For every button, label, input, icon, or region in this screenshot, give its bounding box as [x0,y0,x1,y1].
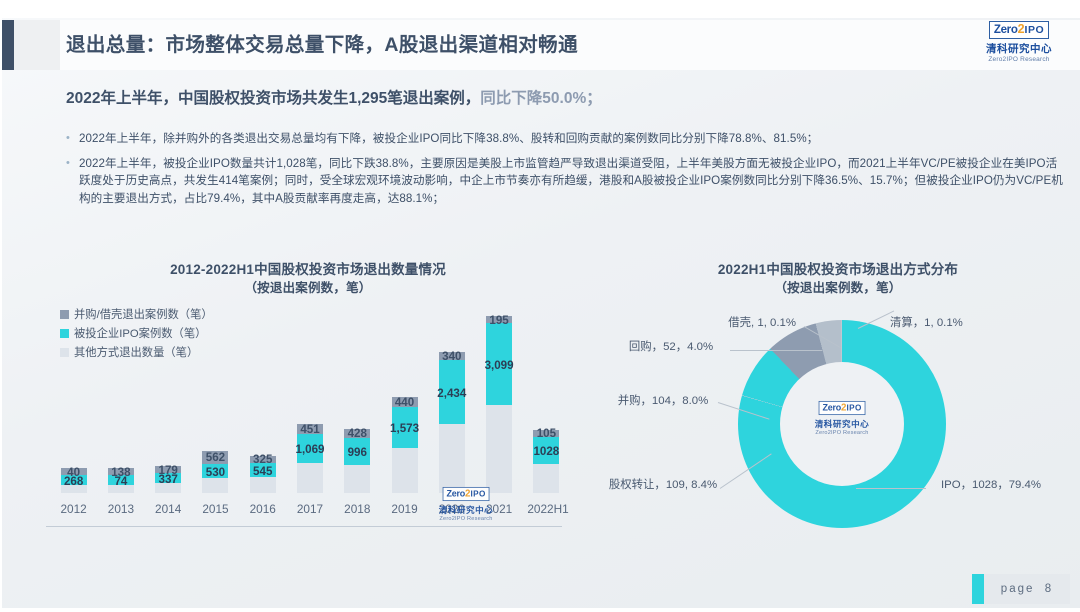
bullet-item: • 2022年上半年，被投企业IPO数量共计1,028笔，同比下跌38.8%，主… [66,155,1066,208]
bar-x-axis-label: 2021 [480,502,518,516]
bar-group: 1,0694512017 [291,304,329,526]
bar-column [439,352,465,493]
pie-label-jieke: 借壳, 1, 0.1% [626,316,796,331]
summary-headline: 2022年上半年，中国股权投资市场共发生1,295笔退出案例，同比下降50.0%… [66,86,602,108]
bar-group: 741382013 [102,304,140,526]
bar-segment-other [250,477,276,493]
bar-group: 5453252016 [244,304,282,526]
bar-value-label-ma: 451 [300,423,319,436]
brand-name-en: Zero2IPO Research [972,56,1066,63]
bar-value-label-ma: 179 [159,464,178,477]
pie-label-guquan-text: 股权转让，109, 8.4% [609,479,717,491]
pie-label-binggou-text: 并购，104，8.0% [618,395,709,407]
bar-chart-title-main: 2012-2022H1中国股权投资市场退出数量情况 [28,260,588,279]
donut-hole [780,362,904,486]
bar-x-axis-label: 2019 [386,502,424,516]
pie-label-ipo: IPO，1028，79.4% [926,478,1056,493]
bar-x-axis-label: 2015 [196,502,234,516]
bar-chart-x-axis [46,526,562,527]
pie-label-huigou-text: 回购，52，4.0% [629,341,713,353]
bullet-list: • 2022年上半年，除并购外的各类退出交易总量均有下降，被投企业IPO同比下降… [66,130,1066,214]
brand-name-cn: 清科研究中心 [972,41,1066,56]
bullet-dot-icon: • [66,130,79,147]
bar-group: 5305622015 [196,304,234,526]
bar-column [392,397,418,493]
donut-chart-subtitle: （按退出案例数，笔） [608,279,1068,298]
donut-chart-panel: 2022H1中国股权投资市场退出方式分布 （按退出案例数，笔） 借壳, 1, 0… [608,260,1068,560]
bar-value-label-ma: 428 [348,427,367,440]
header-accent-block [2,20,14,70]
bar-group: 9964282018 [338,304,376,526]
bar-x-axis-label: 2014 [149,502,187,516]
left-white-edge [0,0,2,612]
bar-x-axis-label: 2013 [102,502,140,516]
pie-label-guquan: 股权转让，109, 8.4% [604,478,722,493]
donut-chart-title: 2022H1中国股权投资市场退出方式分布 （按退出案例数，笔） [608,260,1068,298]
bullet-text: 2022年上半年，被投企业IPO数量共计1,028笔，同比下跌38.8%，主要原… [79,155,1066,208]
bar-value-label-ipo: 1,573 [390,422,419,435]
summary-main: 2022年上半年，中国股权投资市场共发生1,295笔退出案例， [66,90,480,107]
bar-segment-other [486,405,512,493]
brand-mark: Zero2IPO [989,21,1049,39]
bar-x-axis-label: 2020 [433,502,471,516]
bar-value-label-ma: 562 [206,451,225,464]
bar-segment-other [439,424,465,493]
bar-x-axis-label: 2012 [55,502,93,516]
bar-x-axis-label: 2017 [291,502,329,516]
donut-chart-area: 借壳, 1, 0.1% 回购，52，4.0% 并购，104，8.0% 股权转让，… [608,302,1068,560]
bar-value-label-ipo: 1028 [533,445,559,458]
bar-group: 268402012 [55,304,93,526]
bar-group: 3,0991952021 [480,304,518,526]
donut-chart-title-main: 2022H1中国股权投资市场退出方式分布 [608,260,1068,279]
bar-chart-title: 2012-2022H1中国股权投资市场退出数量情况 （按退出案例数，笔） [28,260,588,298]
bar-segment-other [297,463,323,493]
bullet-item: • 2022年上半年，除并购外的各类退出交易总量均有下降，被投企业IPO同比下降… [66,130,1066,148]
bar-segment-other [202,478,228,493]
bar-group: 2,4343402020 [433,304,471,526]
bullet-text: 2022年上半年，除并购外的各类退出交易总量均有下降，被投企业IPO同比下降38… [79,130,818,148]
bar-column [486,316,512,493]
page-title: 退出总量：市场整体交易总量下降，A股退出渠道相对畅通 [66,28,578,57]
brand-mark-two: 2 [1018,22,1025,36]
bar-chart-plot: 2684020127413820133371792014530562201554… [50,304,570,526]
page-value: 8 [1045,583,1053,595]
pie-label-jieke-text: 借壳, 1, 0.1% [728,317,796,329]
leader-line-huigou [730,350,822,351]
bar-value-label-ma: 40 [67,466,80,479]
leader-line-ipo [856,488,926,489]
top-white-strip [0,0,1080,18]
bar-chart-panel: 2012-2022H1中国股权投资市场退出数量情况 （按退出案例数，笔） 并购/… [28,260,588,560]
page-accent-tab [972,574,984,604]
bar-chart-subtitle: （按退出案例数，笔） [28,279,588,298]
bar-value-label-ma: 340 [442,350,461,363]
bar-value-label-ma: 325 [253,453,272,466]
bar-value-label-ipo: 3,099 [485,359,514,372]
bar-value-label-ma: 195 [489,314,508,327]
pie-label-huigou: 回购，52，4.0% [612,340,730,355]
bar-segment-other [344,465,370,493]
bar-value-label-ipo: 1,069 [295,443,324,456]
bar-value-label-ipo: 545 [253,465,272,478]
summary-muted: 同比下降50.0%； [480,90,601,107]
bar-x-axis-label: 2018 [338,502,376,516]
bar-chart-area: 并购/借壳退出案例数（笔） 被投企业IPO案例数（笔） 其他方式退出数量（笔） … [28,302,588,560]
bar-x-axis-label: 2016 [244,502,282,516]
page-label: page [1001,583,1035,595]
bar-value-label-ma: 105 [537,427,556,440]
brand-mark-ipo: IPO [1025,24,1045,36]
bar-value-label-ma: 138 [111,466,130,479]
brand-logo: Zero2IPO 清科研究中心 Zero2IPO Research [972,20,1066,63]
bullet-dot-icon: • [66,155,79,172]
slide-root: 退出总量：市场整体交易总量下降，A股退出渠道相对畅通 Zero2IPO 清科研究… [0,0,1080,612]
pie-label-binggou: 并购，104，8.0% [608,394,718,409]
bar-value-label-ipo: 2,434 [437,387,466,400]
footer-white-line [0,608,1080,612]
pie-label-ipo-text: IPO，1028，79.4% [941,479,1041,491]
pie-label-qingsuan-text: 清算，1, 0.1% [890,317,963,329]
pie-label-qingsuan: 清算，1, 0.1% [890,316,1040,331]
bar-value-label-ma: 440 [395,396,414,409]
page-number-box: page 8 [972,574,1070,604]
bar-group: 3371792014 [149,304,187,526]
bar-segment-other [533,464,559,493]
page-number-text: page 8 [984,583,1070,595]
bar-value-label-ipo: 530 [206,466,225,479]
bar-segment-other [392,448,418,493]
bar-x-axis-label: 2022H1 [527,502,565,516]
bar-group: 1,5734402019 [386,304,424,526]
donut-ring [738,320,946,528]
brand-mark-zero: Zero [994,24,1018,36]
bar-group: 10281052022H1 [527,304,565,526]
bar-value-label-ipo: 996 [348,446,367,459]
